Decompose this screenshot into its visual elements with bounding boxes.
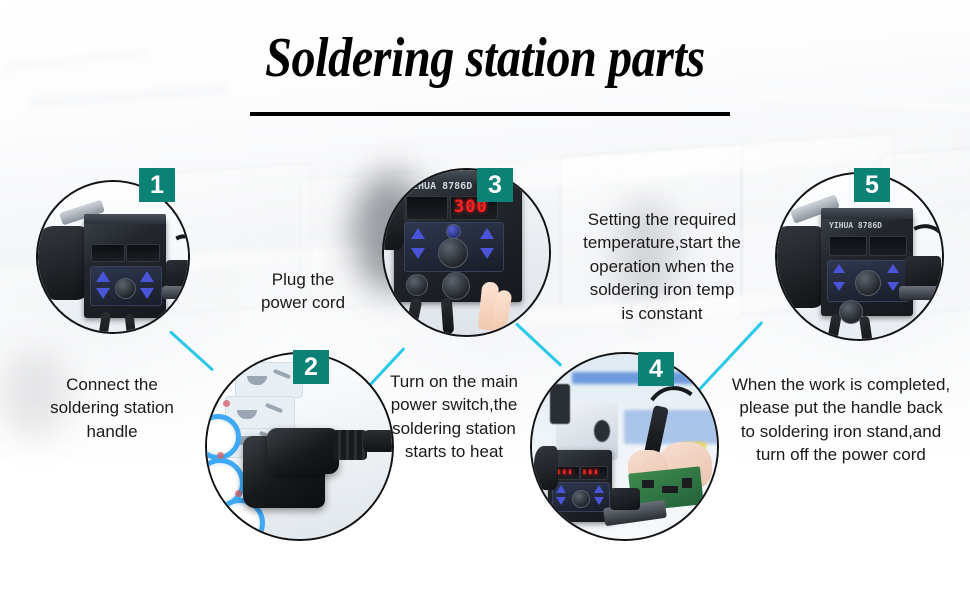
hot-air-gun-icon [36, 226, 90, 300]
station-top [84, 214, 166, 224]
step-photo-1 [36, 180, 190, 334]
control-knob [438, 238, 468, 268]
workbench-photo: ▮▮▮ ▮▮▮ [532, 354, 717, 539]
down-arrow-icon [480, 248, 494, 259]
station-display-left [406, 196, 448, 220]
page-title: Soldering station parts [68, 26, 902, 90]
indicator-dot [235, 490, 242, 497]
microscope-lens [594, 420, 610, 442]
soldering-station-photo [38, 182, 188, 332]
down-arrow-icon [556, 497, 566, 505]
up-arrow-icon [480, 228, 494, 239]
up-arrow-icon [594, 485, 604, 493]
down-arrow-icon [887, 282, 899, 291]
step-badge-1: 1 [139, 168, 175, 202]
stand-base [899, 286, 944, 300]
step-caption-setting: Setting the required temperature,start t… [562, 208, 762, 325]
down-arrow-icon [833, 282, 845, 291]
down-arrow-icon [411, 248, 425, 259]
handle-socket [442, 272, 470, 300]
control-knob [855, 270, 881, 296]
power-socket [406, 274, 428, 296]
hot-air-gun-icon [775, 226, 827, 308]
down-arrow-icon [594, 497, 604, 505]
station-display [126, 244, 160, 262]
stand-base [162, 286, 190, 299]
station-top [821, 208, 913, 219]
control-knob [572, 490, 590, 508]
indicator-dot [217, 452, 224, 459]
step-photo-3: YIHUA 8786D 300 [382, 168, 551, 337]
station-display-photo: YIHUA 8786D 300 [384, 170, 549, 335]
up-arrow-icon [556, 485, 566, 493]
up-arrow-icon [140, 271, 154, 282]
station-brand-label: YIHUA 8786D [829, 222, 882, 230]
pcb-component [642, 480, 654, 488]
up-arrow-icon [887, 264, 899, 273]
pcb-component [662, 486, 678, 493]
up-arrow-icon [411, 228, 425, 239]
power-plug [267, 428, 339, 474]
mode-button [446, 224, 461, 239]
hot-air-gun-icon [534, 446, 558, 490]
readout-right: ▮▮▮ [582, 468, 599, 476]
down-arrow-icon [96, 288, 110, 299]
pcb-component [682, 478, 692, 488]
step-caption-1: Connect the soldering station handle [22, 373, 202, 443]
up-arrow-icon [96, 271, 110, 282]
step-caption-complete: When the work is completed, please put t… [722, 373, 960, 467]
station-brand-label: YIHUA 8786D [406, 182, 472, 192]
step-caption-turnon: Turn on the main power switch,the solder… [378, 370, 530, 464]
control-knob [115, 278, 136, 299]
plug-strain-relief [333, 430, 367, 460]
step-badge-3: 3 [477, 168, 513, 202]
readout-left: ▮▮▮ [556, 468, 573, 476]
step-caption-plug: Plug the power cord [238, 268, 368, 315]
step-badge-4: 4 [638, 352, 674, 386]
step-photo-4: ▮▮▮ ▮▮▮ [530, 352, 719, 541]
step-badge-2: 2 [293, 350, 329, 384]
title-underline [250, 112, 730, 116]
down-arrow-icon [140, 288, 154, 299]
step-badge-5: 5 [854, 168, 890, 202]
iron-stand [610, 488, 640, 510]
hot-air-gun-icon [382, 188, 404, 250]
infographic-poster: Soldering station parts [0, 0, 970, 600]
up-arrow-icon [833, 264, 845, 273]
microscope-arm [550, 384, 570, 424]
indicator-dot [223, 400, 230, 407]
station-display [91, 244, 125, 262]
station-display [829, 236, 867, 256]
